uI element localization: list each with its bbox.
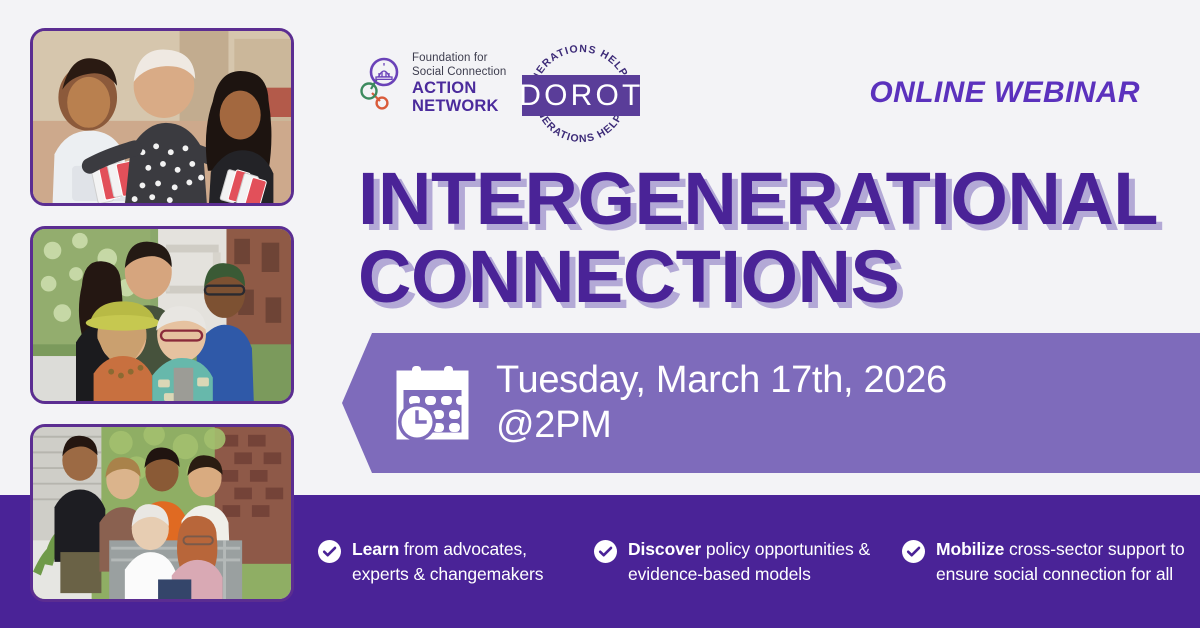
dorot-wordmark-band: DOROT xyxy=(522,75,640,116)
check-circle-icon xyxy=(902,540,925,568)
title-line-2: CONNECTIONS xyxy=(358,238,1158,316)
list-item: Discover policy opportunities & evidence… xyxy=(594,537,876,587)
fsc-network: NETWORK xyxy=(412,97,506,115)
date-text: Tuesday, March 17th, 2026 @2PM xyxy=(496,358,947,448)
date-banner: Tuesday, March 17th, 2026 @2PM xyxy=(342,333,1200,473)
fsc-action: ACTION xyxy=(412,79,506,97)
check-circle-icon xyxy=(318,540,341,568)
list-item: Mobilize cross-sector support to ensure … xyxy=(902,537,1187,587)
webinar-kicker: ONLINE WEBINAR xyxy=(869,76,1140,110)
dorot-wordmark: DOROT xyxy=(519,79,643,113)
page-title: INTERGENERATIONAL CONNECTIONS xyxy=(358,160,1158,316)
benefit-keyword: Learn xyxy=(352,539,399,559)
date-line-2: @2PM xyxy=(496,403,947,448)
logo-row: Foundation for Social Connection ACTION … xyxy=(358,40,640,140)
date-line-1: Tuesday, March 17th, 2026 xyxy=(496,358,947,403)
fsc-logo-text: Foundation for Social Connection ACTION … xyxy=(412,52,506,115)
photo-card-family-outdoors: Five people of different generations smi… xyxy=(30,226,294,404)
benefits-list: Learn from advocates, experts & changema… xyxy=(318,495,1200,628)
capitol-dome-icon xyxy=(358,57,404,111)
fsc-action-network-logo: Foundation for Social Connection ACTION … xyxy=(358,40,506,115)
photo-card-card-game: Teen boy, smiling older woman and teen g… xyxy=(30,28,294,206)
check-circle-icon xyxy=(594,540,617,568)
benefit-text: Discover policy opportunities & evidence… xyxy=(628,537,876,587)
benefit-text: Mobilize cross-sector support to ensure … xyxy=(936,537,1187,587)
list-item: Learn from advocates, experts & changema… xyxy=(318,537,568,587)
fsc-line-2: Social Connection xyxy=(412,66,506,80)
benefit-keyword: Discover xyxy=(628,539,701,559)
benefit-text: Learn from advocates, experts & changema… xyxy=(352,537,568,587)
title-line-1: INTERGENERATIONAL xyxy=(358,160,1158,238)
fsc-line-1: Foundation for xyxy=(412,52,506,66)
photo-card-group-bench: Group of teens standing behind two seate… xyxy=(30,424,294,602)
calendar-clock-icon xyxy=(392,362,470,445)
benefit-keyword: Mobilize xyxy=(936,539,1004,559)
dorot-logo: GENERATIONS HELPING GENERATIONS HELPING … xyxy=(522,40,640,150)
